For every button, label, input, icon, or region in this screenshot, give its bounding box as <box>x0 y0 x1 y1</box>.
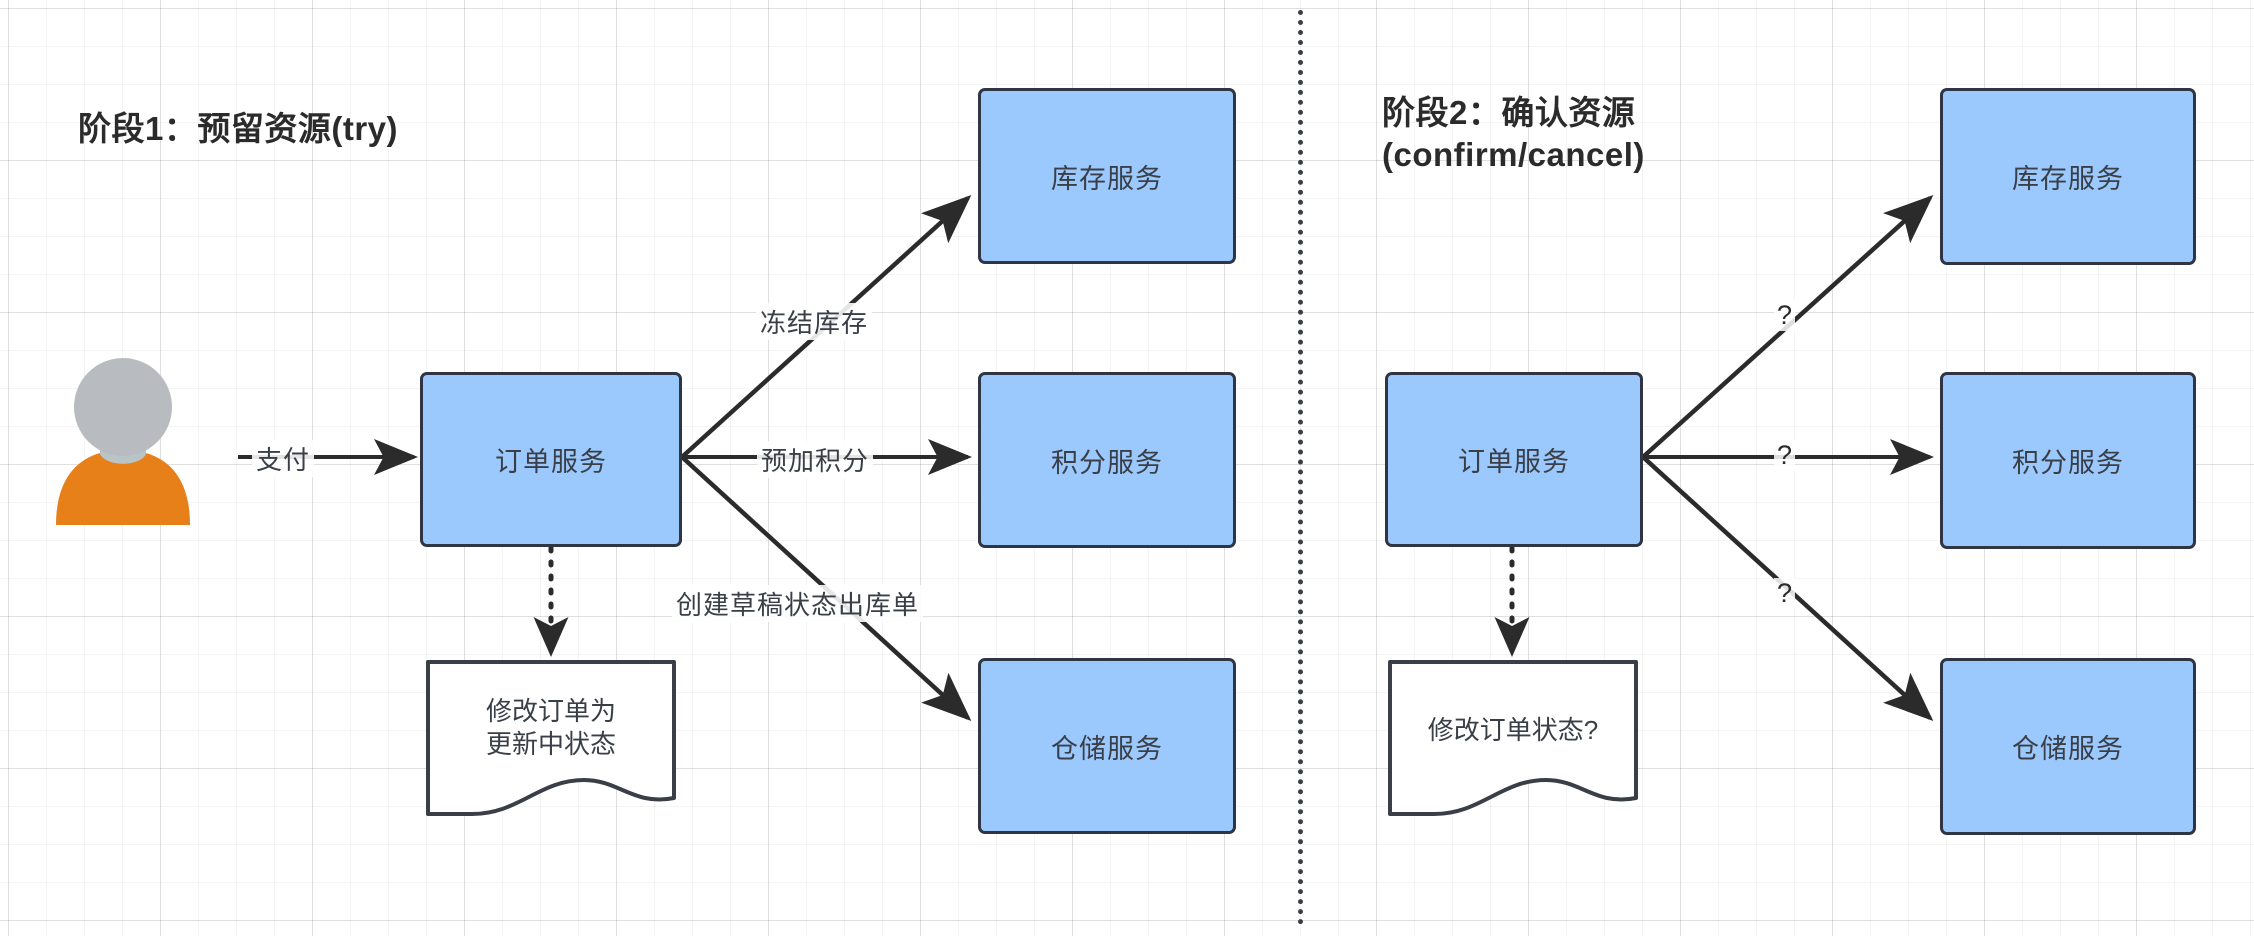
edge-label-pre-add-points: 预加积分 <box>757 441 873 478</box>
phase2-order-service-box[interactable]: 订单服务 <box>1385 372 1643 547</box>
person-icon <box>48 355 198 525</box>
user-actor <box>48 355 198 525</box>
phase2-note[interactable]: 修改订单状态? <box>1386 658 1640 818</box>
phase1-warehouse-service-box[interactable]: 仓储服务 <box>978 658 1236 834</box>
phase1-warehouse-service-label: 仓储服务 <box>1051 727 1163 766</box>
phase1-points-service-box[interactable]: 积分服务 <box>978 372 1236 548</box>
phase2-warehouse-service-box[interactable]: 仓储服务 <box>1940 658 2196 835</box>
phase1-order-service-label: 订单服务 <box>495 440 607 479</box>
phase2-points-service-box[interactable]: 积分服务 <box>1940 372 2196 549</box>
phase2-stock-service-box[interactable]: 库存服务 <box>1940 88 2196 265</box>
phase2-points-service-label: 积分服务 <box>2012 441 2124 480</box>
phase1-stock-service-box[interactable]: 库存服务 <box>978 88 1236 264</box>
phase1-note-label: 修改订单为 更新中状态 <box>424 695 678 762</box>
phase1-title: 阶段1：预留资源(try) <box>78 108 398 150</box>
phase2-warehouse-service-label: 仓储服务 <box>2012 727 2124 766</box>
edge-label-confirm-points: ? <box>1774 440 1795 471</box>
phase2-stock-service-label: 库存服务 <box>2012 157 2124 196</box>
edge-label-confirm-warehouse: ? <box>1774 578 1795 609</box>
phase1-stock-service-label: 库存服务 <box>1051 157 1163 196</box>
phase2-order-service-label: 订单服务 <box>1458 440 1570 479</box>
phase1-order-service-box[interactable]: 订单服务 <box>420 372 682 547</box>
phase2-title: 阶段2：确认资源 (confirm/cancel) <box>1382 92 1645 176</box>
edge-label-freeze-stock: 冻结库存 <box>756 303 872 340</box>
phase2-note-label: 修改订单状态? <box>1386 714 1640 747</box>
phase-divider <box>1298 10 1303 925</box>
edge-label-confirm-stock: ? <box>1774 300 1795 331</box>
edge-label-create-draft-outbound: 创建草稿状态出库单 <box>672 585 923 622</box>
diagram-canvas: 阶段1：预留资源(try) 支付 订单服务 库存服务 积分服务 仓储服务 冻结库… <box>0 0 2254 936</box>
phase1-points-service-label: 积分服务 <box>1051 441 1163 480</box>
phase1-note[interactable]: 修改订单为 更新中状态 <box>424 658 678 818</box>
edge-label-pay: 支付 <box>252 440 314 477</box>
